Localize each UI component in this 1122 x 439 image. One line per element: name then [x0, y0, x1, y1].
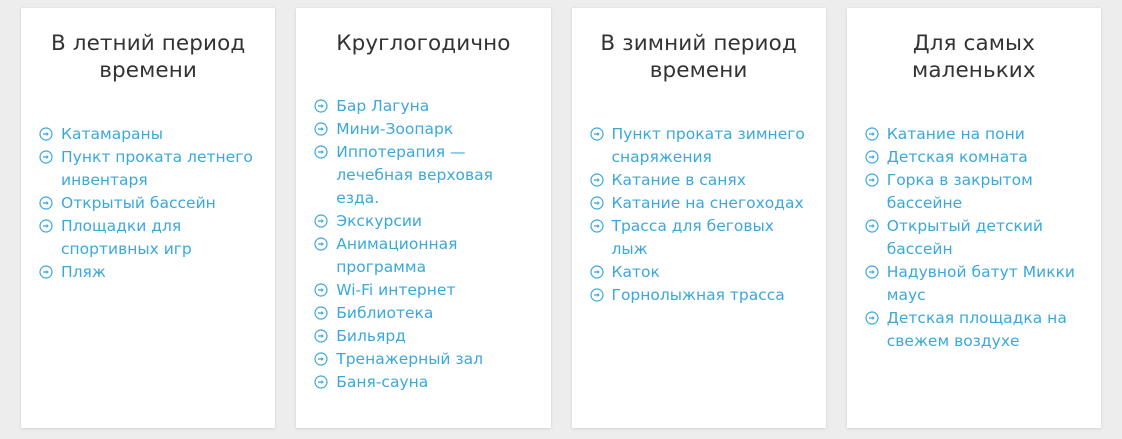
list-item-label: Бар Лагуна — [336, 95, 532, 118]
circle-arrow-right-icon — [865, 219, 879, 233]
circle-arrow-right-icon — [590, 219, 604, 233]
list-item-label: Горнолыжная трасса — [612, 284, 808, 307]
list-item-label: Библиотека — [336, 302, 532, 325]
list-item-label: Анимационная программа — [336, 233, 532, 279]
list-item[interactable]: Надувной батут Микки маус — [865, 261, 1083, 307]
list-item[interactable]: Детская комната — [865, 146, 1083, 169]
list-item-label: Открытый бассейн — [61, 192, 257, 215]
list-item[interactable]: Пункт проката летнего инвентаря — [39, 146, 257, 192]
list-item-label: Катание в санях — [612, 169, 808, 192]
circle-arrow-right-icon — [865, 173, 879, 187]
circle-arrow-right-icon — [590, 288, 604, 302]
circle-arrow-right-icon — [314, 306, 328, 320]
list-item[interactable]: Открытый бассейн — [39, 192, 257, 215]
list-item[interactable]: Горка в закрытом бассейне — [865, 169, 1083, 215]
card-title: Для самых маленьких — [865, 30, 1083, 84]
amenity-card-kids: Для самых маленьких Катание на пони Детс… — [847, 8, 1101, 428]
list-item[interactable]: Открытый детский бассейн — [865, 215, 1083, 261]
list-item[interactable]: Горнолыжная трасса — [590, 284, 808, 307]
list-item[interactable]: Катание в санях — [590, 169, 808, 192]
list-item-label: Баня-сауна — [336, 371, 532, 394]
list-item[interactable]: Бар Лагуна — [314, 95, 532, 118]
card-title: В зимний период времени — [590, 30, 808, 84]
circle-arrow-right-icon — [39, 219, 53, 233]
amenity-card-winter: В зимний период времени Пункт проката зи… — [572, 8, 826, 428]
list-item[interactable]: Катание на пони — [865, 123, 1083, 146]
circle-arrow-right-icon — [590, 265, 604, 279]
circle-arrow-right-icon — [865, 265, 879, 279]
list-item-label: Тренажерный зал — [336, 348, 532, 371]
amenity-list: Катамараны Пункт проката летнего инвента… — [39, 123, 257, 284]
list-item[interactable]: Иппотерапия — лечебная верховая езда. — [314, 141, 532, 210]
list-item-label: Пляж — [61, 261, 257, 284]
circle-arrow-right-icon — [39, 150, 53, 164]
list-item-label: Каток — [612, 261, 808, 284]
list-item[interactable]: Библиотека — [314, 302, 532, 325]
circle-arrow-right-icon — [39, 196, 53, 210]
circle-arrow-right-icon — [314, 214, 328, 228]
circle-arrow-right-icon — [314, 122, 328, 136]
circle-arrow-right-icon — [314, 145, 328, 159]
list-item-label: Экскурсии — [336, 210, 532, 233]
list-item-label: Площадки для спортивных игр — [61, 215, 257, 261]
circle-arrow-right-icon — [314, 352, 328, 366]
list-item[interactable]: Бильярд — [314, 325, 532, 348]
circle-arrow-right-icon — [590, 127, 604, 141]
list-item-label: Пункт проката зимнего снаряжения — [612, 123, 808, 169]
list-item[interactable]: Каток — [590, 261, 808, 284]
circle-arrow-right-icon — [865, 150, 879, 164]
list-item-label: Надувной батут Микки маус — [887, 261, 1083, 307]
list-item[interactable]: Катание на снегоходах — [590, 192, 808, 215]
list-item-label: Трасса для беговых лыж — [612, 215, 808, 261]
list-item[interactable]: Площадки для спортивных игр — [39, 215, 257, 261]
circle-arrow-right-icon — [865, 127, 879, 141]
list-item-label: Детская комната — [887, 146, 1083, 169]
list-item[interactable]: Баня-сауна — [314, 371, 532, 394]
circle-arrow-right-icon — [314, 237, 328, 251]
circle-arrow-right-icon — [865, 311, 879, 325]
amenities-columns-board: В летний период времени Катамараны Пункт… — [0, 0, 1122, 439]
list-item-label: Катамараны — [61, 123, 257, 146]
list-item-label: Wi-Fi интернет — [336, 279, 532, 302]
circle-arrow-right-icon — [590, 196, 604, 210]
list-item[interactable]: Анимационная программа — [314, 233, 532, 279]
circle-arrow-right-icon — [314, 329, 328, 343]
list-item[interactable]: Катамараны — [39, 123, 257, 146]
list-item[interactable]: Мини-Зоопарк — [314, 118, 532, 141]
circle-arrow-right-icon — [314, 99, 328, 113]
amenity-card-summer: В летний период времени Катамараны Пункт… — [21, 8, 275, 428]
circle-arrow-right-icon — [314, 375, 328, 389]
list-item[interactable]: Детская площадка на свежем воздухе — [865, 307, 1083, 353]
amenity-list: Катание на пони Детская комната Горка в … — [865, 123, 1083, 353]
circle-arrow-right-icon — [39, 127, 53, 141]
list-item[interactable]: Пункт проката зимнего снаряжения — [590, 123, 808, 169]
card-title: В летний период времени — [39, 30, 257, 84]
circle-arrow-right-icon — [39, 265, 53, 279]
amenity-list: Бар Лагуна Мини-Зоопарк Иппотерапия — ле… — [314, 95, 532, 394]
list-item-label: Детская площадка на свежем воздухе — [887, 307, 1083, 353]
list-item[interactable]: Пляж — [39, 261, 257, 284]
list-item-label: Бильярд — [336, 325, 532, 348]
amenity-card-year-round: Круглогодично Бар Лагуна Мини-Зоопарк Ип… — [296, 8, 550, 428]
amenity-list: Пункт проката зимнего снаряжения Катание… — [590, 123, 808, 307]
list-item[interactable]: Экскурсии — [314, 210, 532, 233]
list-item-label: Открытый детский бассейн — [887, 215, 1083, 261]
list-item-label: Мини-Зоопарк — [336, 118, 532, 141]
list-item-label: Иппотерапия — лечебная верховая езда. — [336, 141, 532, 210]
list-item[interactable]: Wi-Fi интернет — [314, 279, 532, 302]
list-item-label: Горка в закрытом бассейне — [887, 169, 1083, 215]
list-item-label: Катание на снегоходах — [612, 192, 808, 215]
list-item-label: Пункт проката летнего инвентаря — [61, 146, 257, 192]
circle-arrow-right-icon — [590, 173, 604, 187]
circle-arrow-right-icon — [314, 283, 328, 297]
card-title: Круглогодично — [314, 30, 532, 57]
list-item[interactable]: Тренажерный зал — [314, 348, 532, 371]
list-item-label: Катание на пони — [887, 123, 1083, 146]
list-item[interactable]: Трасса для беговых лыж — [590, 215, 808, 261]
